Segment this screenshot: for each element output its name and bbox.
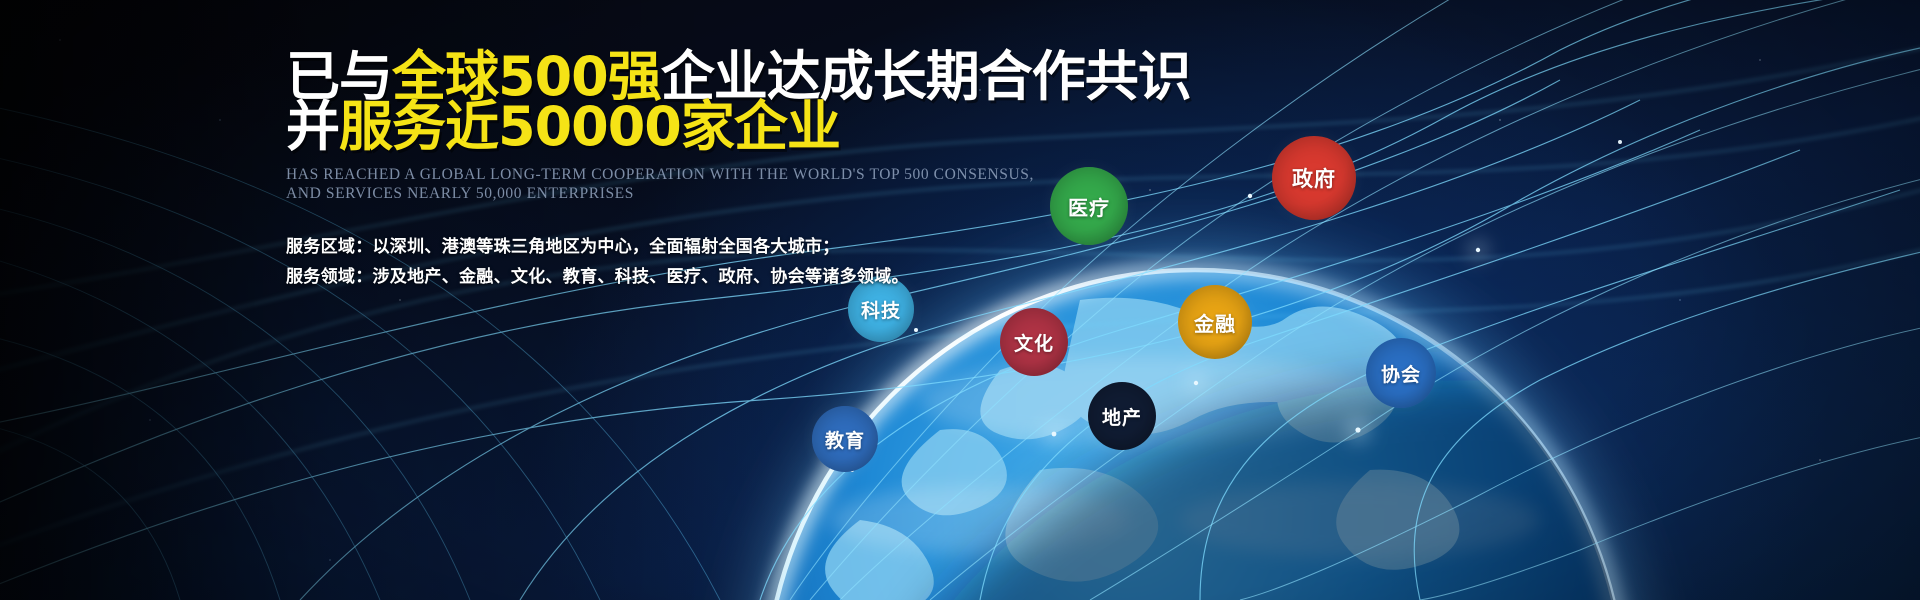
- category-bubble-1[interactable]: 医疗: [1050, 167, 1128, 245]
- headline-l2-white-prefix: 并: [286, 95, 339, 158]
- category-bubble-label: 政府: [1292, 163, 1336, 193]
- promo-banner: 已与全球500强企业达成长期合作共识 并服务近50000家企业 HAS REAC…: [0, 0, 1920, 600]
- category-bubble-3[interactable]: 协会: [1366, 338, 1436, 408]
- category-bubble-label: 地产: [1102, 403, 1142, 430]
- category-bubble-7[interactable]: 教育: [812, 406, 878, 472]
- headline-l2-yellow: 服务近50000家企业: [339, 95, 840, 158]
- english-subtitle-line-1: HAS REACHED A GLOBAL LONG-TERM COOPERATI…: [286, 165, 1046, 184]
- category-bubble-2[interactable]: 金融: [1178, 285, 1252, 359]
- category-bubble-5[interactable]: 文化: [1000, 308, 1068, 376]
- english-subtitle-line-2: AND SERVICES NEARLY 50,000 ENTERPRISES: [286, 184, 1046, 203]
- category-bubble-0[interactable]: 政府: [1272, 136, 1356, 220]
- copy-block: 已与全球500强企业达成长期合作共识 并服务近50000家企业 HAS REAC…: [286, 52, 1046, 292]
- headline: 已与全球500强企业达成长期合作共识 并服务近50000家企业: [286, 52, 1046, 152]
- headline-line-2: 并服务近50000家企业: [286, 102, 1046, 152]
- body-text-line-2: 服务领域：涉及地产、金融、文化、教育、科技、医疗、政府、协会等诸多领域。: [286, 262, 1046, 292]
- body-text: 服务区域：以深圳、港澳等珠三角地区为中心，全面辐射全国各大城市； 服务领域：涉及…: [286, 232, 1046, 292]
- category-bubble-label: 协会: [1381, 360, 1421, 387]
- category-bubble-label: 科技: [861, 296, 901, 323]
- category-bubble-label: 文化: [1014, 329, 1054, 356]
- category-bubble-6[interactable]: 地产: [1088, 382, 1156, 450]
- body-text-line-1: 服务区域：以深圳、港澳等珠三角地区为中心，全面辐射全国各大城市；: [286, 232, 1046, 262]
- category-bubble-label: 教育: [825, 426, 865, 453]
- category-bubble-label: 医疗: [1068, 192, 1110, 221]
- category-bubble-label: 金融: [1194, 308, 1236, 337]
- english-subtitle: HAS REACHED A GLOBAL LONG-TERM COOPERATI…: [286, 165, 1046, 203]
